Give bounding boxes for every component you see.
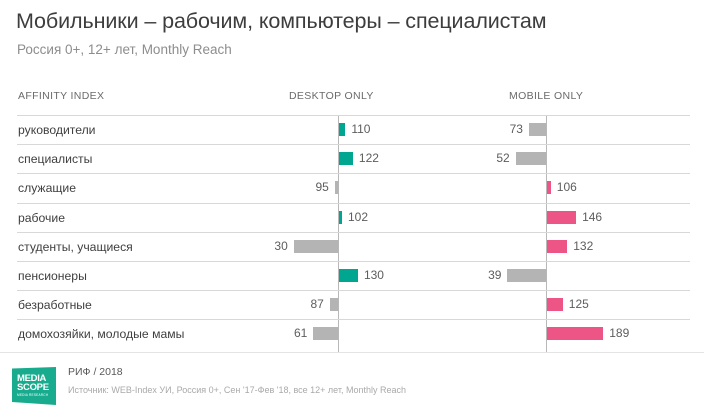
bar-value-desktop: 130 — [364, 268, 384, 282]
bar-desktop — [339, 152, 353, 165]
bar-desktop — [339, 123, 345, 136]
page-title: Мобильники – рабочим, компьютеры – специ… — [16, 9, 546, 34]
category-label: пенсионеры — [18, 269, 87, 283]
bar-value-desktop: 95 — [315, 180, 328, 194]
table-row: домохозяйки, молодые мамы61189 — [0, 319, 704, 348]
bar-value-mobile: 132 — [573, 239, 593, 253]
table-row: руководители11073 — [0, 115, 704, 144]
table-row: студенты, учащиеся30132 — [0, 232, 704, 261]
bar-value-mobile: 189 — [609, 326, 629, 340]
category-label: домохозяйки, молодые мамы — [18, 327, 184, 341]
bar-desktop — [335, 181, 338, 194]
bar-value-mobile: 125 — [569, 297, 589, 311]
bar-value-desktop: 61 — [294, 326, 307, 340]
column-header-affinity-index: AFFINITY INDEX — [18, 90, 104, 102]
bar-desktop — [294, 240, 338, 253]
table-row: безработные87125 — [0, 290, 704, 319]
category-label: служащие — [18, 181, 76, 195]
bar-value-mobile: 146 — [582, 210, 602, 224]
bar-mobile — [547, 327, 603, 340]
page-subtitle: Россия 0+, 12+ лет, Monthly Reach — [17, 42, 232, 57]
source-note: Источник: WEB-Index УИ, Россия 0+, Сен '… — [68, 385, 406, 395]
bar-value-desktop: 30 — [274, 239, 287, 253]
table-row: рабочие102146 — [0, 203, 704, 232]
mediascope-logo: MEDIA SCOPE MEDIA RESEARCH — [12, 367, 56, 405]
category-label: руководители — [18, 123, 96, 137]
row-separator — [17, 173, 690, 174]
table-row: специалисты12252 — [0, 144, 704, 173]
bar-desktop — [339, 211, 342, 224]
bar-value-desktop: 102 — [348, 210, 368, 224]
row-separator — [17, 261, 690, 262]
bar-value-mobile: 73 — [510, 122, 523, 136]
bar-desktop — [339, 269, 358, 282]
bar-mobile — [529, 123, 546, 136]
bar-value-mobile: 106 — [557, 180, 577, 194]
footer-divider — [0, 352, 704, 353]
row-separator — [17, 144, 690, 145]
row-separator — [17, 203, 690, 204]
logo-line-2: SCOPE — [17, 383, 49, 392]
row-separator — [17, 115, 690, 116]
table-row: пенсионеры13039 — [0, 261, 704, 290]
event-label: РИФ / 2018 — [68, 366, 123, 378]
bar-mobile — [547, 298, 563, 311]
bar-value-mobile: 52 — [496, 151, 509, 165]
row-separator — [17, 290, 690, 291]
category-label: рабочие — [18, 211, 65, 225]
bar-mobile — [547, 240, 567, 253]
logo-line-3: MEDIA RESEARCH — [17, 393, 48, 397]
table-row: служащие95106 — [0, 173, 704, 202]
bar-mobile — [516, 152, 546, 165]
bar-desktop — [313, 327, 338, 340]
category-label: студенты, учащиеся — [18, 240, 133, 254]
bar-mobile — [547, 181, 551, 194]
bar-mobile — [507, 269, 546, 282]
column-header-desktop-only: DESKTOP ONLY — [289, 90, 374, 102]
category-label: специалисты — [18, 152, 92, 166]
row-separator — [17, 319, 690, 320]
bar-mobile — [547, 211, 576, 224]
bar-value-desktop: 87 — [310, 297, 323, 311]
category-label: безработные — [18, 298, 92, 312]
row-separator — [17, 232, 690, 233]
column-header-mobile-only: MOBILE ONLY — [509, 90, 583, 102]
bar-value-desktop: 110 — [351, 122, 370, 136]
bar-value-desktop: 122 — [359, 151, 379, 165]
chart-plot-area: руководители11073специалисты12252служащи… — [0, 115, 704, 352]
bar-desktop — [330, 298, 338, 311]
bar-value-mobile: 39 — [488, 268, 501, 282]
